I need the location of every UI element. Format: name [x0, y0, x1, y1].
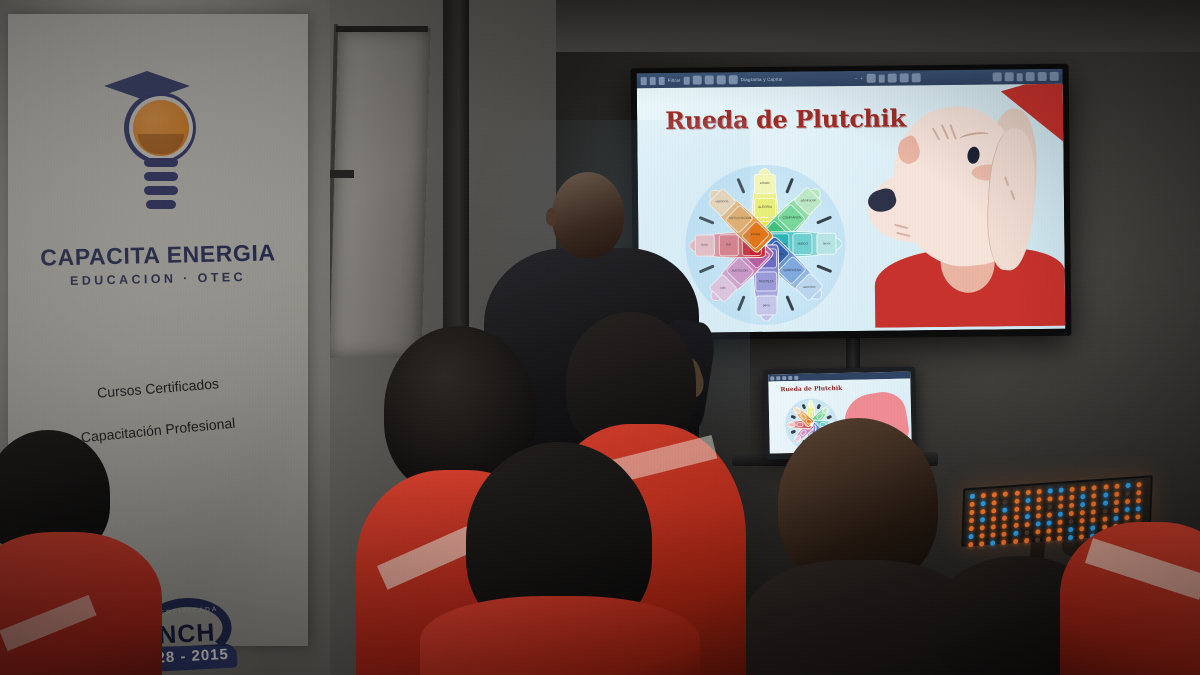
- led-warm: [1069, 519, 1074, 524]
- wheel-emotion-label: pena: [756, 305, 776, 308]
- lightbulb-icon: [133, 100, 189, 156]
- laptop-redo-icon[interactable]: [776, 376, 780, 380]
- led-warm: [1013, 515, 1018, 520]
- led-cool: [1080, 502, 1085, 507]
- led-warm: [1013, 539, 1018, 544]
- led-cool: [1103, 492, 1108, 497]
- led-warm: [969, 518, 974, 523]
- banner-line-1: Cursos Certificados: [8, 368, 308, 407]
- led-cool: [1058, 512, 1063, 517]
- edit-icon[interactable]: [1038, 72, 1047, 81]
- led-cool: [1046, 520, 1051, 525]
- led-warm: [1125, 499, 1130, 504]
- banner-title: CAPACITA ENERGIA: [8, 239, 309, 273]
- led-warm: [970, 502, 975, 507]
- pen-icon[interactable]: [887, 74, 896, 83]
- led-warm: [991, 508, 996, 513]
- led-cool: [1125, 483, 1130, 488]
- wheel-emotion-label: extasis: [755, 181, 775, 184]
- led-cool: [968, 534, 973, 539]
- wheel-segment: furia: [694, 234, 714, 257]
- led-warm: [1025, 506, 1030, 511]
- led-warm: [1069, 511, 1074, 516]
- led-cool: [980, 517, 985, 522]
- led-warm: [1069, 495, 1074, 500]
- wheel-segment: [789, 423, 796, 428]
- layers-icon[interactable]: [911, 73, 920, 82]
- led-warm: [992, 492, 997, 497]
- share-icon[interactable]: [1026, 72, 1035, 81]
- wheel-emotion-label: IRA: [718, 244, 738, 247]
- wheel-emotion-label: ALEGRIA: [755, 206, 775, 209]
- led-warm: [1092, 493, 1097, 498]
- led-warm: [1091, 501, 1096, 506]
- led-warm: [1046, 528, 1051, 533]
- led-warm: [1002, 524, 1007, 529]
- bulb-outer-ring: [124, 92, 196, 164]
- led-warm: [980, 525, 985, 530]
- led-warm: [1024, 530, 1029, 535]
- undo-icon[interactable]: [641, 77, 647, 85]
- photo-scene: CAPACITA ENERGIA EDUCACION · OTEC Cursos…: [0, 0, 1200, 675]
- wall-column: [443, 0, 469, 350]
- led-warm: [1036, 497, 1041, 502]
- search-icon[interactable]: [993, 72, 1002, 81]
- wheel-emotion-label: admiracion: [798, 199, 818, 202]
- ceiling: [548, 0, 1200, 52]
- led-warm: [1035, 529, 1040, 534]
- led-warm: [1058, 504, 1063, 509]
- led-warm: [1002, 515, 1007, 520]
- pointer-icon[interactable]: [684, 76, 690, 84]
- zoom-in-button[interactable]: +: [861, 76, 864, 81]
- led-cool: [1013, 531, 1018, 536]
- wheel-emotion-label: terror: [817, 243, 837, 246]
- led-warm: [991, 524, 996, 529]
- led-warm: [1047, 512, 1052, 517]
- led-warm: [1081, 486, 1086, 491]
- led-warm: [1069, 503, 1074, 508]
- led-warm: [1024, 538, 1029, 543]
- led-warm: [1036, 505, 1041, 510]
- door-panel: [329, 28, 430, 358]
- led-cool: [1113, 516, 1118, 521]
- wheel-emotion-label: asombro: [799, 286, 819, 289]
- led-warm: [992, 500, 997, 505]
- led-warm: [1036, 489, 1041, 494]
- info-icon[interactable]: [878, 74, 884, 82]
- led-cool: [1135, 506, 1140, 511]
- zoom-out-button[interactable]: –: [855, 76, 858, 81]
- wheel-segment: IRA: [719, 234, 739, 257]
- laptop-filter-icon[interactable]: [782, 376, 786, 380]
- wheel-emotion-label: odio: [712, 287, 732, 290]
- led-warm: [1135, 514, 1140, 519]
- wheel-emotion-label: MIEDO: [792, 243, 812, 246]
- more-icon[interactable]: [1050, 72, 1059, 81]
- led-warm: [981, 493, 986, 498]
- led-warm: [969, 510, 974, 515]
- led-warm: [1058, 496, 1063, 501]
- led-warm: [1014, 491, 1019, 496]
- led-warm: [1113, 508, 1118, 513]
- wheel-emotion-label: SORPRESA: [782, 269, 802, 272]
- laptop-shape-icon[interactable]: [788, 375, 792, 379]
- bulb-screw-icon: [144, 158, 178, 210]
- led-warm: [991, 532, 996, 537]
- bulb-inner-ring: [129, 96, 193, 160]
- led-warm: [1091, 509, 1096, 514]
- led-cool: [1091, 525, 1096, 530]
- cartoon-dog-character-icon: [863, 84, 1066, 328]
- text-icon[interactable]: [729, 75, 738, 84]
- led-warm: [1136, 490, 1141, 495]
- tv-screen[interactable]: Filtrar Diagrama y Capital – +: [637, 69, 1066, 333]
- led-warm: [1079, 526, 1084, 531]
- led-cool: [1024, 514, 1029, 519]
- led-warm: [1103, 484, 1108, 489]
- led-cool: [1068, 527, 1073, 532]
- laptop-text-icon[interactable]: [794, 375, 798, 379]
- led-warm: [1036, 513, 1041, 518]
- led-warm: [1002, 532, 1007, 537]
- filter-icon[interactable]: [659, 76, 665, 84]
- led-cool: [1003, 507, 1008, 512]
- grid-icon[interactable]: [1005, 72, 1014, 81]
- led-warm: [1080, 518, 1085, 523]
- led-cool: [970, 494, 975, 499]
- redo-icon[interactable]: [650, 77, 656, 85]
- led-cool: [1048, 488, 1053, 493]
- graduation-cap-icon: [102, 70, 192, 112]
- led-warm: [1047, 504, 1052, 509]
- wheel-emotion-label: CONFIANZA: [781, 217, 801, 220]
- led-warm: [1114, 492, 1119, 497]
- wheel-emotion-label: furia: [694, 244, 714, 247]
- led-warm: [1114, 500, 1119, 505]
- laptop-slide-title: Rueda de Plutchik: [780, 385, 842, 393]
- led-warm: [1014, 507, 1019, 512]
- banner-subtitle: EDUCACION · OTEC: [8, 269, 308, 290]
- led-cool: [1059, 487, 1064, 492]
- led-cool: [1025, 498, 1030, 503]
- bulb-shadow: [138, 134, 184, 154]
- led-warm: [1003, 491, 1008, 496]
- led-warm: [1092, 485, 1097, 490]
- led-warm: [1003, 499, 1008, 504]
- comment-icon[interactable]: [899, 73, 908, 82]
- image-icon[interactable]: [705, 75, 714, 84]
- wheel-segment: TRISTEZA: [755, 271, 778, 291]
- laptop-undo-icon[interactable]: [770, 376, 774, 380]
- led-warm: [1080, 510, 1085, 515]
- capacita-energia-logo: [98, 62, 218, 232]
- led-warm: [980, 533, 985, 538]
- door-header: [336, 26, 428, 32]
- led-warm: [1047, 496, 1052, 501]
- wheel-emotion-label: AVERSION: [729, 270, 749, 273]
- led-warm: [1070, 487, 1075, 492]
- plutchik-wheel-chart: extasisALEGRIAserenidadadmiracionCONFIAN…: [685, 164, 847, 326]
- led-cool: [1081, 494, 1086, 499]
- led-warm: [1014, 499, 1019, 504]
- led-warm: [1057, 528, 1062, 533]
- wheel-segment: MIEDO: [792, 233, 812, 256]
- wheel-segment: ALEGRIA: [754, 198, 777, 218]
- led-warm: [1102, 517, 1107, 522]
- wheel-emotion-label: TRISTEZA: [756, 280, 776, 283]
- led-warm: [1125, 491, 1130, 496]
- filter-label[interactable]: Filtrar: [668, 78, 681, 83]
- led-cool: [1124, 507, 1129, 512]
- led-warm: [1136, 498, 1141, 503]
- led-warm: [969, 526, 974, 531]
- slide-canvas[interactable]: Rueda de Plutchik extasisALEGRIAserenida…: [637, 84, 1066, 333]
- wheel-segment: [808, 402, 813, 409]
- wheel-segment: pena: [755, 296, 778, 316]
- wheel-emotion-label: ANTICIPACION: [729, 217, 749, 220]
- led-warm: [1024, 522, 1029, 527]
- led-warm: [1114, 484, 1119, 489]
- led-warm: [1091, 517, 1096, 522]
- led-warm: [991, 516, 996, 521]
- link-icon[interactable]: [717, 75, 726, 84]
- led-warm: [1102, 508, 1107, 513]
- wheel-segment: terror: [817, 233, 837, 256]
- led-warm: [1058, 520, 1063, 525]
- shape-icon[interactable]: [693, 76, 702, 85]
- led-cool: [981, 501, 986, 506]
- led-warm: [1136, 482, 1141, 487]
- document-label[interactable]: Diagrama y Capital: [741, 77, 783, 82]
- led-warm: [1124, 515, 1129, 520]
- led-warm: [1025, 490, 1030, 495]
- present-icon[interactable]: [1017, 73, 1023, 81]
- led-cool: [1035, 521, 1040, 526]
- led-warm: [1013, 523, 1018, 528]
- fit-icon[interactable]: [866, 74, 875, 83]
- led-cool: [1102, 500, 1107, 505]
- wheel-segment: extasis: [754, 174, 777, 194]
- led-warm: [980, 509, 985, 514]
- wheel-emotion-label: vigilancia: [711, 200, 731, 203]
